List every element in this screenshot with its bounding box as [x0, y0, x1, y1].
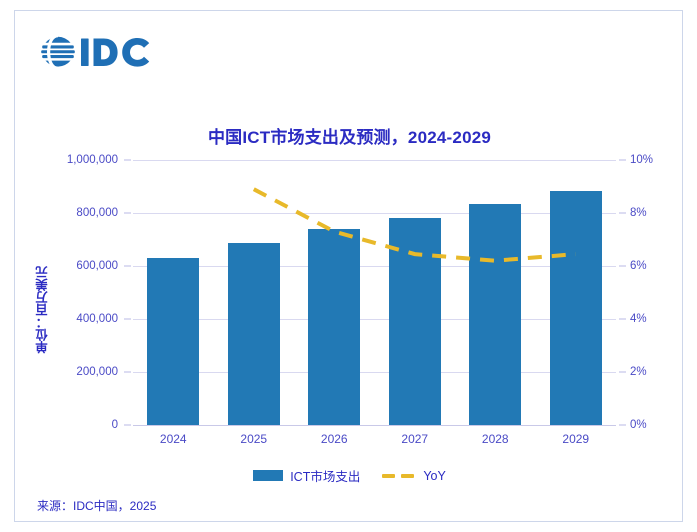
legend-dashed-line-swatch: [382, 470, 416, 481]
chart-page: 中国ICT市场支出及预测，2024-2029 单位：百万美元 202420252…: [0, 0, 697, 532]
secondary-y-axis-tick-mark: [619, 319, 626, 320]
secondary-y-axis-tick-mark: [619, 266, 626, 267]
bar-2029[interactable]: [550, 191, 602, 425]
gridline: [133, 266, 616, 267]
secondary-y-axis-tick-mark: [619, 213, 626, 214]
secondary-y-axis-tick-label: 4%: [630, 313, 647, 325]
gridline: [133, 425, 616, 426]
y-axis-tick-label: 1,000,000: [67, 154, 118, 166]
y-axis-tick-mark: [124, 372, 131, 373]
x-axis-tick-label-2027: 2027: [401, 432, 428, 446]
legend-label: ICT市场支出: [290, 466, 360, 485]
secondary-y-axis-tick-label: 0%: [630, 419, 647, 431]
secondary-y-axis-tick-label: 2%: [630, 366, 647, 378]
y-axis-tick-mark: [124, 319, 131, 320]
y-axis-tick-label: 0: [112, 419, 118, 431]
x-axis-tick-label-2028: 2028: [482, 432, 509, 446]
gridline: [133, 160, 616, 161]
legend-item-yoy[interactable]: YoY: [382, 469, 445, 483]
x-axis-tick-label-2029: 2029: [562, 432, 589, 446]
secondary-y-axis-tick-label: 8%: [630, 207, 647, 219]
secondary-y-axis-tick-mark: [619, 372, 626, 373]
plot-area: 202420252026202720282029: [133, 160, 616, 425]
idc-logo: [37, 33, 177, 81]
legend-bar-swatch: [253, 470, 283, 481]
y-axis-tick-mark: [124, 425, 131, 426]
y-axis-tick-mark: [124, 266, 131, 267]
source-note: 来源：IDC中国，2025: [37, 497, 156, 514]
secondary-y-axis-tick-label: 6%: [630, 260, 647, 272]
secondary-y-axis-tick-mark: [619, 160, 626, 161]
y-axis-tick-label: 200,000: [76, 366, 118, 378]
globe-icon: [41, 36, 75, 69]
x-axis-tick-label-2025: 2025: [240, 432, 267, 446]
chart-title: 中国ICT市场支出及预测，2024-2029: [15, 123, 684, 148]
gridline: [133, 213, 616, 214]
legend-item-spending[interactable]: ICT市场支出: [253, 466, 360, 485]
y-axis-tick-label: 400,000: [76, 313, 118, 325]
yoy-line-series: [133, 160, 616, 425]
x-axis-tick-label-2024: 2024: [160, 432, 187, 446]
gridline: [133, 319, 616, 320]
secondary-y-axis-tick-mark: [619, 425, 626, 426]
bar-2027[interactable]: [389, 218, 441, 425]
chart-legend: ICT市场支出YoY: [15, 466, 684, 485]
secondary-y-axis-tick-label: 10%: [630, 154, 653, 166]
bar-2024[interactable]: [147, 258, 199, 425]
y-axis-tick-mark: [124, 213, 131, 214]
x-axis-tick-label-2026: 2026: [321, 432, 348, 446]
bar-2026[interactable]: [308, 229, 360, 425]
idc-wordmark: [81, 38, 149, 67]
gridline: [133, 372, 616, 373]
legend-label: YoY: [423, 469, 445, 483]
y-axis-tick-mark: [124, 160, 131, 161]
chart-card: 中国ICT市场支出及预测，2024-2029 单位：百万美元 202420252…: [14, 10, 683, 522]
bar-2028[interactable]: [469, 204, 521, 425]
y-axis-tick-label: 600,000: [76, 260, 118, 272]
y-axis-title: 单位：百万美元: [33, 266, 52, 354]
bar-2025[interactable]: [228, 243, 280, 425]
y-axis-tick-label: 800,000: [76, 207, 118, 219]
